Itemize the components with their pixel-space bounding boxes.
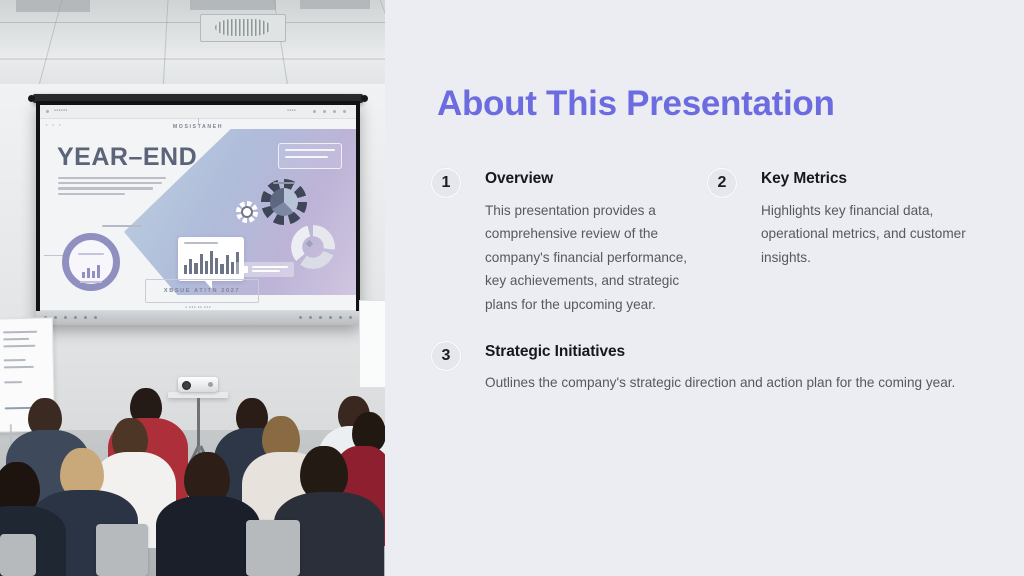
- page-title: About This Presentation: [437, 84, 835, 124]
- items-row-top: 1 Overview This presentation provides a …: [431, 166, 991, 317]
- chair: [0, 534, 36, 576]
- ceiling-panel-light: [16, 0, 90, 12]
- slide-app-topbar: ●●●●●● ●●●●: [40, 105, 356, 119]
- slide-headline: YEAR–END: [57, 143, 197, 172]
- slide-paragraph-lines: [58, 177, 166, 198]
- segmented-ring-label: ◆: [306, 238, 313, 249]
- item-number-badge: 3: [431, 341, 461, 371]
- projector-knob: [208, 382, 213, 387]
- bar-chart: [184, 250, 239, 274]
- projected-slide: ●●●●●● ●●●● • • • MOSISTANEH YEAR–END: [40, 105, 356, 321]
- item-number-badge: 1: [431, 168, 461, 198]
- ceiling-panel-light: [190, 0, 276, 10]
- chair: [246, 520, 300, 576]
- ceiling-panel-light: [300, 0, 370, 9]
- item-heading: Overview: [485, 166, 707, 189]
- item-body: This presentation provides a comprehensi…: [485, 199, 707, 317]
- slide-donut-chart: [62, 233, 120, 291]
- projector-screen: ●●●●●● ●●●● • • • MOSISTANEH YEAR–END: [36, 101, 360, 325]
- screen-taskbar: [36, 311, 360, 325]
- items-container: 1 Overview This presentation provides a …: [431, 166, 991, 395]
- slide-tag-card: [236, 262, 294, 277]
- item-body: Outlines the company's strategic directi…: [485, 371, 976, 395]
- ceiling: [0, 0, 385, 96]
- pie-chart-icon: [270, 188, 298, 216]
- projector: [178, 377, 218, 392]
- list-item-strategic-initiatives[interactable]: 3 Strategic Initiatives Outlines the com…: [431, 339, 976, 395]
- presentation-slide: ●●●●●● ●●●● • • • MOSISTANEH YEAR–END: [0, 0, 1024, 576]
- conference-room-photo: ●●●●●● ●●●● • • • MOSISTANEH YEAR–END: [0, 0, 385, 576]
- projector-lens: [182, 381, 191, 390]
- item-body: Highlights key financial data, operation…: [761, 199, 983, 270]
- item-number-badge: 2: [707, 168, 737, 198]
- chair: [96, 524, 148, 576]
- slide-callout-box: [278, 143, 342, 169]
- slide-status-line: ● ●●● ●● ●●●: [40, 305, 356, 309]
- segmented-ring-chart: [291, 225, 335, 269]
- slide-bar-chart-callout: [178, 237, 244, 281]
- content-panel: About This Presentation 1 Overview This …: [385, 0, 1024, 576]
- audience-body: [156, 496, 260, 576]
- item-heading: Strategic Initiatives: [485, 339, 976, 362]
- gear-icon: [236, 201, 258, 223]
- item-heading: Key Metrics: [761, 166, 983, 189]
- air-vent-icon: [200, 14, 286, 42]
- items-row-bottom: 3 Strategic Initiatives Outlines the com…: [431, 339, 991, 395]
- donut-bar-icon: [82, 264, 100, 278]
- projector-stand-pole: [197, 398, 200, 450]
- gear-icon: [261, 179, 307, 225]
- list-item-key-metrics[interactable]: 2 Key Metrics Highlights key financial d…: [707, 166, 983, 317]
- slide-ring-label: [102, 225, 142, 227]
- whiteboard: [359, 300, 385, 388]
- slide-footer-label: XBSUE ATITN 2027: [145, 279, 259, 303]
- list-item-overview[interactable]: 1 Overview This presentation provides a …: [431, 166, 707, 317]
